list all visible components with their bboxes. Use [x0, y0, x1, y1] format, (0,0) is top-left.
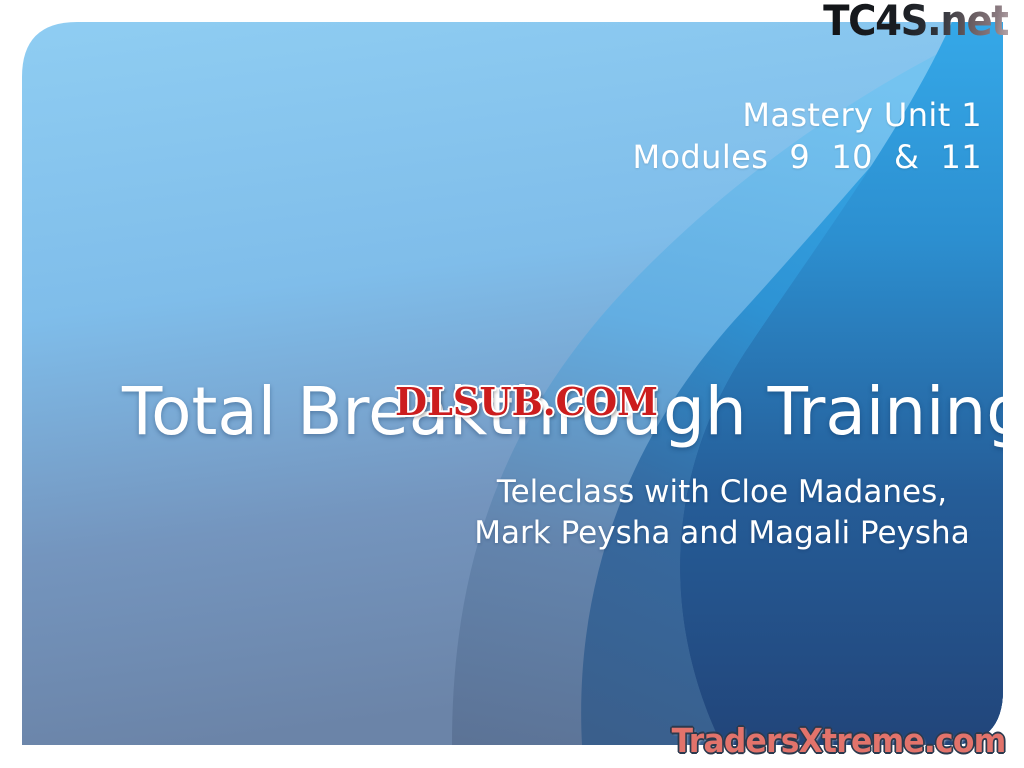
watermark-dlsub: DLSUB.COM — [395, 379, 658, 424]
slide-stage: Mastery Unit 1 Modules 9 10 & 11 Total B… — [0, 0, 1024, 768]
watermark-tradersxtreme: TradersXtreme.com — [672, 721, 1006, 760]
subtitle-line-2: Mark Peysha and Magali Peysha — [442, 513, 1002, 554]
header-line-modules: Modules 9 10 & 11 — [482, 136, 982, 178]
slide-surface: Mastery Unit 1 Modules 9 10 & 11 Total B… — [22, 22, 1003, 745]
slide-subtitle: Teleclass with Cloe Madanes, Mark Peysha… — [442, 472, 1002, 554]
subtitle-line-1: Teleclass with Cloe Madanes, — [442, 472, 1002, 513]
header-line-unit: Mastery Unit 1 — [482, 94, 982, 136]
slide-header-text: Mastery Unit 1 Modules 9 10 & 11 — [482, 94, 982, 178]
watermark-tc4s: TC4S.net — [823, 0, 1008, 45]
